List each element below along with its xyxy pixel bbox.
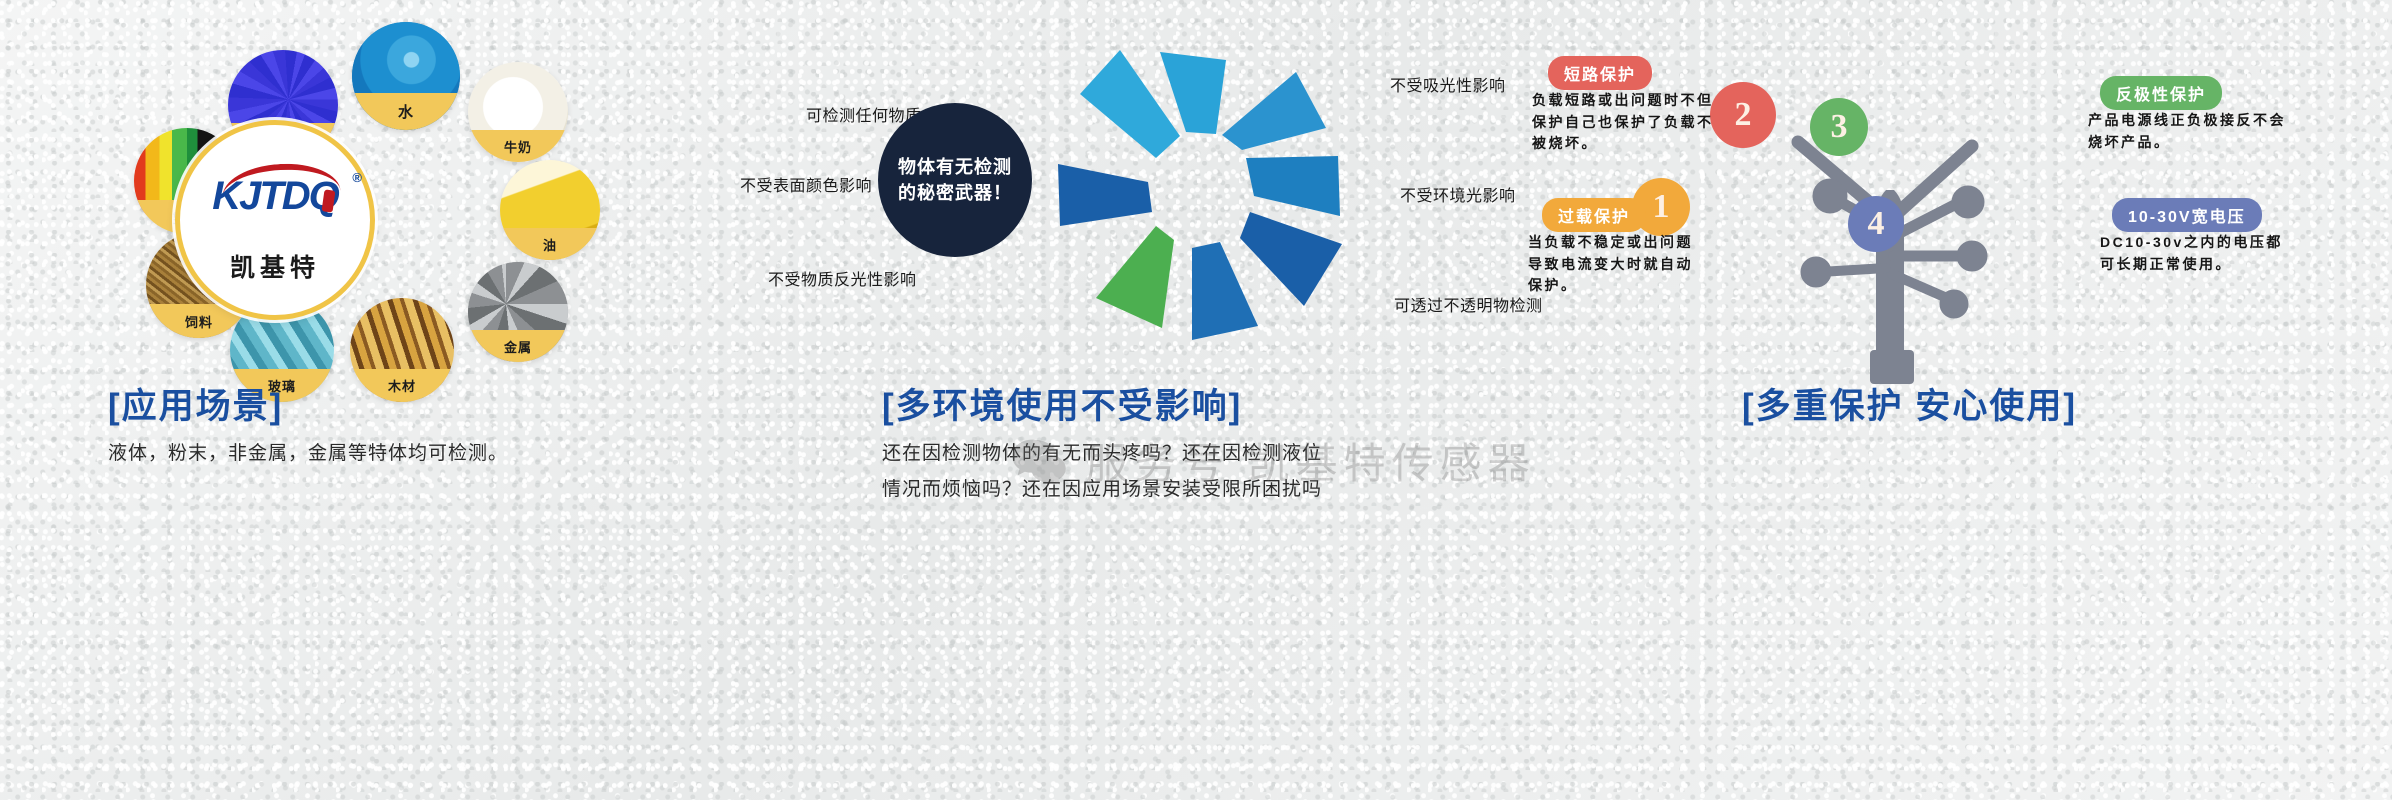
wechat-icon bbox=[1010, 436, 1068, 486]
material-circle-water: 水 bbox=[352, 22, 460, 130]
feature-number-4: 4 bbox=[1848, 196, 1904, 252]
burst-petal bbox=[1240, 212, 1342, 306]
watermark-text: 服务号 凯基特传感器 bbox=[1086, 430, 1536, 491]
environment-burst-diagram: 物体有无检测的秘密武器！ 不受吸光性影响 可检测任何物质 不受表面颜色影响 不受… bbox=[800, 30, 1600, 360]
feature-pill-1: 过载保护 bbox=[1542, 198, 1646, 232]
burst-petals-graphic bbox=[1045, 40, 1355, 340]
material-circle-wood: 木材 bbox=[350, 298, 454, 402]
burst-petal bbox=[1192, 242, 1258, 340]
left-section-title: [应用场景] bbox=[108, 378, 283, 429]
material-label: 金属 bbox=[468, 330, 568, 362]
protection-tree-diagram: 1 2 3 4 短路保护 负载短路或出问题时不但保护自己也保护了负载不被烧坏。 … bbox=[1560, 20, 2392, 400]
feature-body-4: DC10-30v之内的电压都可长期正常使用。 bbox=[2100, 232, 2296, 275]
burst-petal bbox=[1096, 226, 1174, 328]
feature-body-2: 负载短路或出问题时不但保护自己也保护了负载不被烧坏。 bbox=[1532, 90, 1722, 155]
logo-cn-text: 凯基特 bbox=[230, 248, 320, 284]
logo-chinese-name: 凯基特 bbox=[230, 248, 320, 284]
burst-petal bbox=[1246, 156, 1340, 216]
material-circle-milk: 牛奶 bbox=[468, 62, 568, 162]
burst-center-label: 物体有无检测的秘密武器！ bbox=[878, 103, 1032, 257]
feature-number-text: 2 bbox=[1735, 96, 1752, 134]
left-section-body: 液体，粉末，非金属，金属等特体均可检测。 bbox=[108, 436, 708, 471]
middle-section-title: [多环境使用不受影响] bbox=[882, 378, 1242, 429]
burst-petal bbox=[1058, 164, 1152, 226]
material-circle-metal: 金属 bbox=[468, 262, 568, 362]
kjtdq-logo: KJTDQ ® 凯基特 bbox=[175, 120, 375, 320]
feature-number-text: 4 bbox=[1868, 205, 1885, 243]
feature-pill-2: 短路保护 bbox=[1548, 56, 1652, 90]
burst-label-4: 不受物质反光性影响 bbox=[768, 266, 917, 290]
burst-label-2: 不受表面颜色影响 bbox=[740, 172, 872, 196]
feature-number-text: 1 bbox=[1653, 188, 1670, 226]
material-circle-oil: 油 bbox=[500, 160, 600, 260]
material-label: 油 bbox=[500, 228, 600, 260]
application-scenarios-wheel: 布料 水 牛奶 油 金属 木材 玻璃 饲料 塑料 KJTDQ ® bbox=[0, 0, 540, 400]
burst-label-5: 可透过不透明物检测 bbox=[1394, 292, 1543, 316]
burst-label-3: 不受环境光影响 bbox=[1400, 182, 1516, 206]
feature-body-3: 产品电源线正负极接反不会烧坏产品。 bbox=[2088, 110, 2288, 153]
feature-body-1: 当负载不稳定或出问题导致电流变大时就自动保护。 bbox=[1528, 232, 1708, 297]
material-label: 水 bbox=[352, 93, 460, 130]
registered-mark: ® bbox=[352, 170, 362, 185]
material-label: 牛奶 bbox=[468, 130, 568, 162]
feature-pill-3: 反极性保护 bbox=[2100, 76, 2222, 110]
burst-label-0: 不受吸光性影响 bbox=[1390, 72, 1506, 96]
feature-number-text: 3 bbox=[1831, 108, 1848, 146]
burst-petal bbox=[1222, 72, 1326, 150]
feature-pill-4: 10-30V宽电压 bbox=[2112, 198, 2262, 232]
right-section-title: [多重保护 安心使用] bbox=[1742, 378, 2077, 429]
feature-number-3: 3 bbox=[1810, 98, 1868, 156]
wechat-watermark: 服务号 凯基特传感器 bbox=[1010, 430, 1536, 491]
material-label: 木材 bbox=[350, 369, 454, 402]
